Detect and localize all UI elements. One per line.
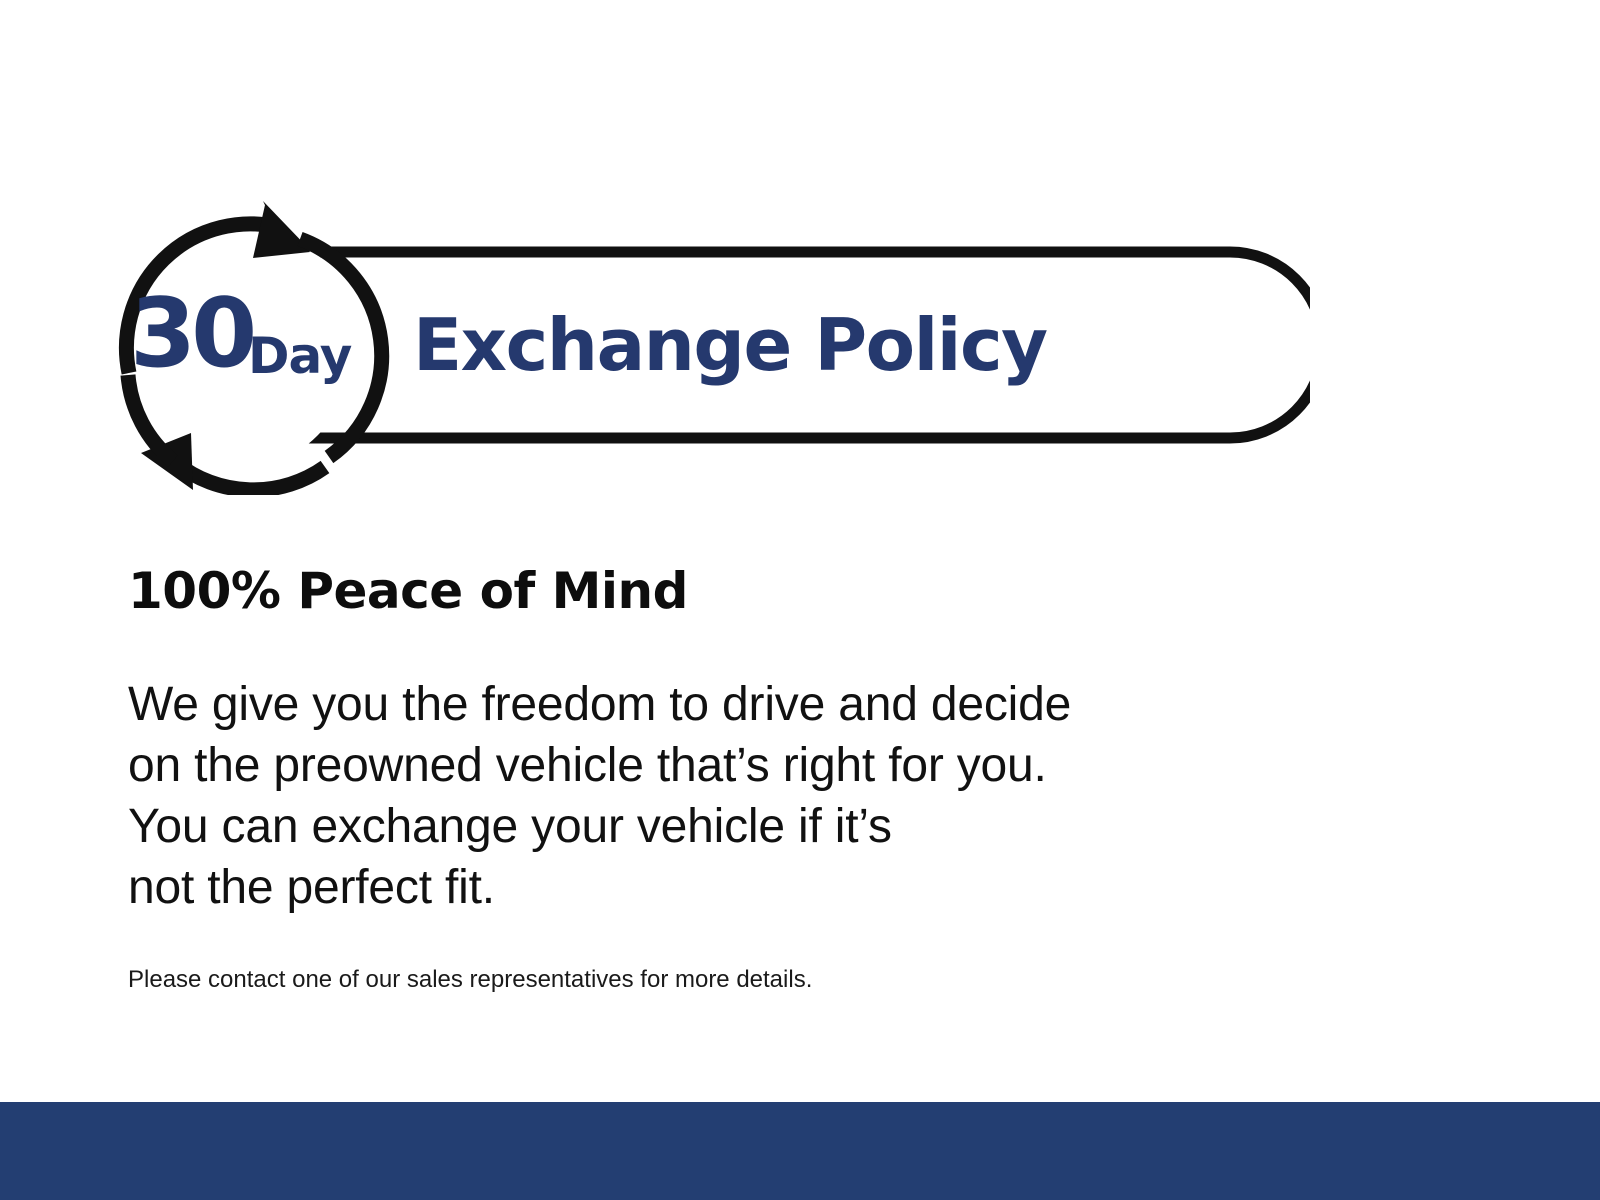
slide-canvas: 30 Day Exchange Policy 100% Peace of Min… <box>0 0 1600 1200</box>
body-line: not the perfect fit. <box>128 857 1288 918</box>
exchange-policy-badge: 30 Day Exchange Policy <box>95 195 1310 495</box>
footer-bar <box>0 1102 1600 1200</box>
body-line: You can exchange your vehicle if it’s <box>128 796 1288 857</box>
badge-title: Exchange Policy <box>413 290 1047 400</box>
body-paragraph: We give you the freedom to drive and dec… <box>128 674 1288 918</box>
headline: 100% Peace of Mind <box>128 560 1328 622</box>
pill-left-mask <box>99 217 355 473</box>
body-line: We give you the freedom to drive and dec… <box>128 674 1288 735</box>
content-block: 100% Peace of Mind We give you the freed… <box>128 560 1328 996</box>
fine-print: Please contact one of our sales represen… <box>128 964 1328 996</box>
body-line: on the preowned vehicle that’s right for… <box>128 735 1288 796</box>
